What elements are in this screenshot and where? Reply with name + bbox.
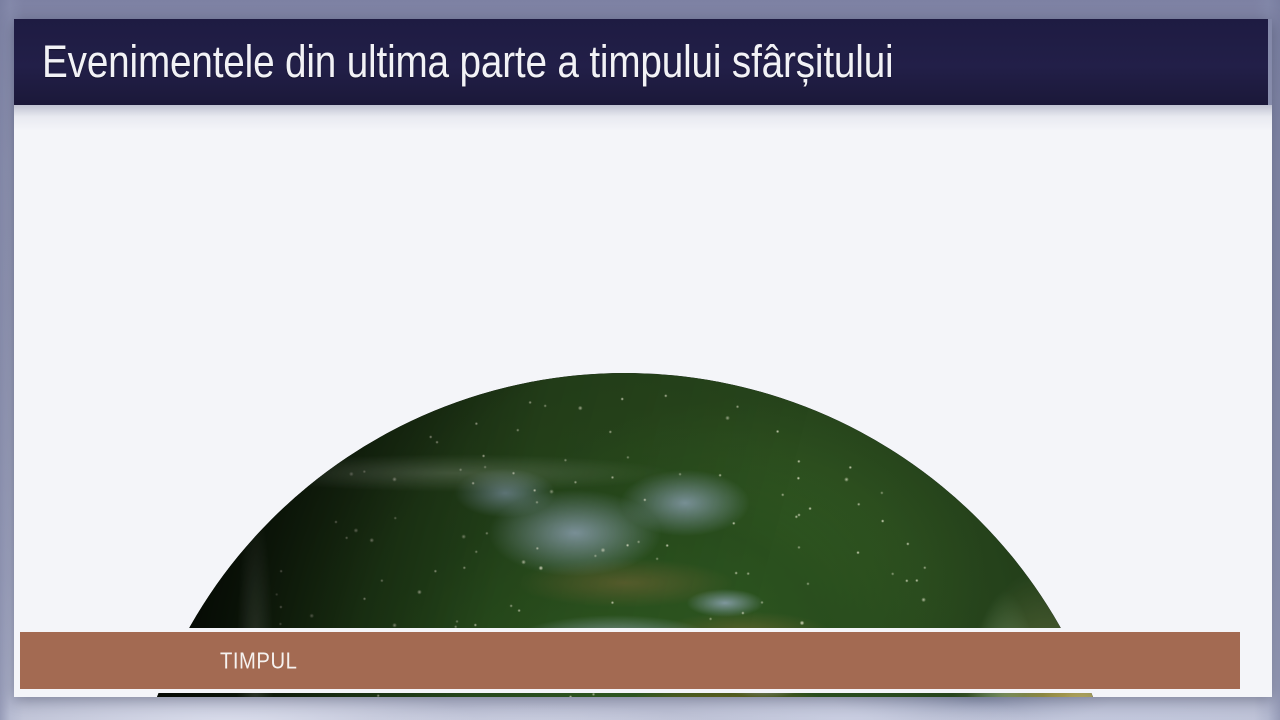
slide-title: Evenimentele din ultima parte a timpului… xyxy=(42,36,893,88)
slide-caption-text: TIMPUL xyxy=(220,647,297,674)
slide: Evenimentele din ultima parte a timpului… xyxy=(14,19,1272,697)
globe-image-stage xyxy=(14,105,1272,697)
slide-caption-bar: TIMPUL xyxy=(16,628,1244,693)
slide-body: TIMPUL xyxy=(14,105,1272,697)
slide-title-band: Evenimentele din ultima parte a timpului… xyxy=(14,19,1268,105)
